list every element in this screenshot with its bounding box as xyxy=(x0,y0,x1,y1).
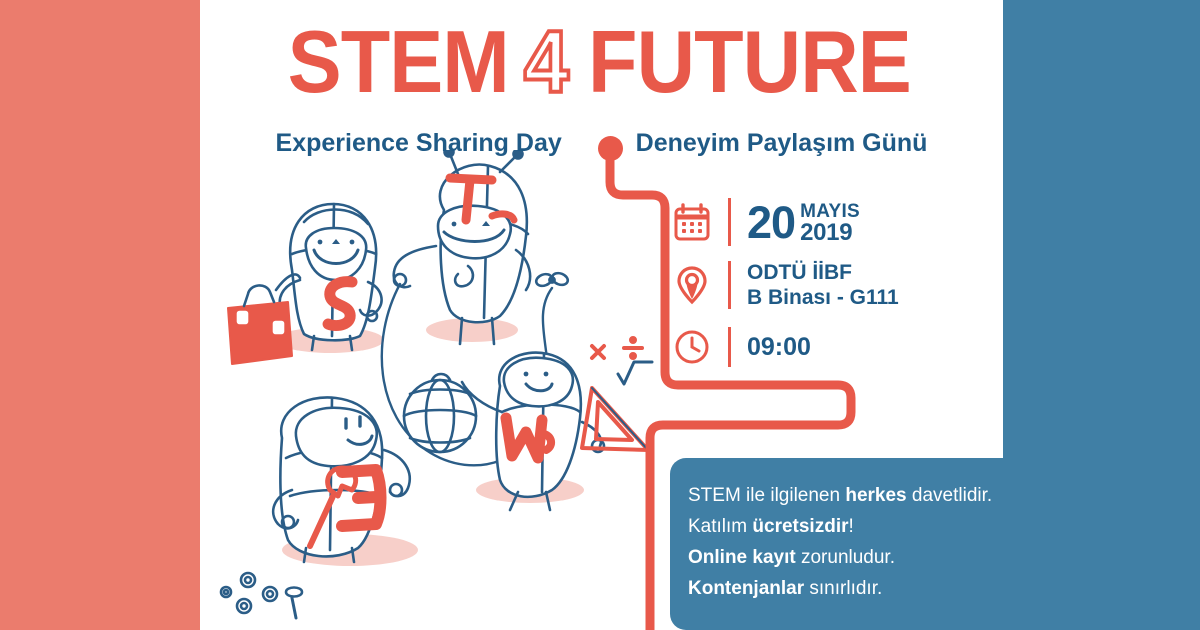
dot-separator-icon xyxy=(598,136,623,161)
subtitle-english: Experience Sharing Day xyxy=(276,129,562,158)
location-line-1: ODTÜ İİBF xyxy=(747,260,899,285)
left-color-band xyxy=(0,0,200,630)
poster-root: STEM4FUTURE Experience Sharing Day Deney… xyxy=(0,0,1200,630)
map-pin-icon xyxy=(672,262,712,308)
note-post: davetlidir. xyxy=(907,485,993,506)
note-line: Katılım ücretsizdir! xyxy=(688,511,1200,542)
note-bold: Kontenjanlar xyxy=(688,578,804,599)
date-year: 2019 xyxy=(800,222,860,243)
date-day: 20 xyxy=(747,200,795,245)
date-text: 20 MAYIS 2019 xyxy=(747,200,860,245)
note-line: STEM ile ilgilenen herkes davetlidir. xyxy=(688,480,1200,511)
clock-icon xyxy=(672,324,712,370)
technology-character xyxy=(394,150,530,344)
note-bold: ücretsizdir xyxy=(752,516,848,537)
engineering-character xyxy=(221,397,410,618)
note-bold: Online kayıt xyxy=(688,547,796,568)
info-note-panel: STEM ile ilgilenen herkes davetlidir. Ka… xyxy=(670,458,1200,630)
stem-characters-illustration xyxy=(200,150,680,630)
note-line: Kontenjanlar sınırlıdır. xyxy=(688,573,1200,604)
location-text: ODTÜ İİBF B Binası - G111 xyxy=(747,260,899,310)
title-part-one: STEM xyxy=(287,18,508,106)
event-date-row: 20 MAYIS 2019 xyxy=(672,198,899,246)
note-line: Online kayıt zorunludur. xyxy=(688,542,1200,573)
time-divider xyxy=(728,327,731,367)
date-divider xyxy=(728,198,731,246)
note-post: zorunludur. xyxy=(796,547,895,568)
note-bold: herkes xyxy=(845,485,906,506)
note-post: ! xyxy=(849,516,854,537)
calendar-icon xyxy=(672,199,712,245)
note-pre: STEM ile ilgilenen xyxy=(688,485,845,506)
event-info-block: 20 MAYIS 2019 ODTÜ İİBF B Binası xyxy=(672,198,899,384)
page-title: STEM4FUTURE xyxy=(200,18,1003,106)
location-divider xyxy=(728,261,731,309)
time-text: 09:00 xyxy=(747,333,811,362)
note-post: sınırlıdır. xyxy=(804,578,882,599)
note-pre: Katılım xyxy=(688,516,752,537)
subtitle-turkish: Deneyim Paylaşım Günü xyxy=(636,129,928,158)
title-four-glyph: 4 xyxy=(521,18,572,106)
title-part-two: FUTURE xyxy=(588,18,911,106)
location-line-2: B Binası - G111 xyxy=(747,285,899,310)
event-time-row: 09:00 xyxy=(672,324,899,370)
event-location-row: ODTÜ İİBF B Binası - G111 xyxy=(672,260,899,310)
